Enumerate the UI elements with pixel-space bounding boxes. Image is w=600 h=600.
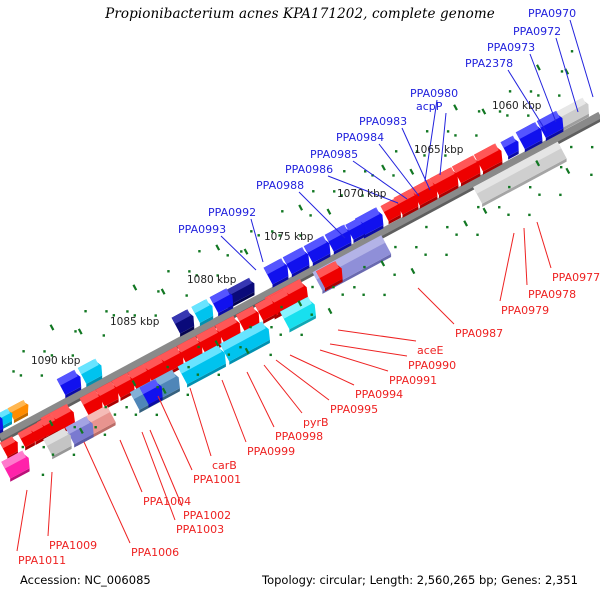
gene-label[interactable]: PPA0992 bbox=[208, 207, 256, 218]
gene-label[interactable]: PPA0987 bbox=[455, 328, 503, 339]
scale-tick-dot bbox=[528, 214, 530, 216]
scale-label: 1085 kbp bbox=[110, 317, 159, 328]
gene-label[interactable]: pyrB bbox=[303, 417, 329, 428]
gene-leader-line bbox=[190, 388, 211, 456]
scale-tick-mark bbox=[51, 325, 54, 330]
scale-tick-dot bbox=[426, 130, 428, 132]
gene-leader-line bbox=[158, 396, 192, 470]
scale-tick-dot bbox=[508, 186, 510, 188]
accession-text: Accession: NC_006085 bbox=[20, 573, 151, 587]
scale-tick-dot bbox=[156, 386, 158, 388]
scale-tick-dot bbox=[249, 326, 251, 328]
gene-leader-line bbox=[120, 440, 142, 492]
gene-label[interactable]: PPA0998 bbox=[275, 431, 323, 442]
scale-tick-dot bbox=[41, 374, 43, 376]
scale-tick-dot bbox=[392, 174, 394, 176]
scale-tick-dot bbox=[446, 226, 448, 228]
scale-label: 1075 kbp bbox=[264, 232, 313, 243]
scale-label: 1090 kbp bbox=[31, 356, 80, 367]
scale-tick-dot bbox=[312, 190, 314, 192]
scale-tick-dot bbox=[343, 170, 345, 172]
scale-tick-dot bbox=[197, 373, 199, 375]
gene-leader-line bbox=[418, 288, 454, 324]
scale-tick-dot bbox=[239, 346, 241, 348]
scale-tick-dot bbox=[157, 290, 159, 292]
scale-tick-dot bbox=[530, 90, 532, 92]
scale-tick-dot bbox=[43, 350, 45, 352]
gene-leader-line bbox=[330, 344, 407, 356]
scale-tick-dot bbox=[537, 94, 539, 96]
genome-map-viewer: Propionibacterium acnes KPA171202, compl… bbox=[0, 0, 600, 600]
scale-tick-mark bbox=[537, 65, 540, 70]
scale-tick-mark bbox=[454, 105, 457, 110]
scale-tick-dot bbox=[353, 286, 355, 288]
scale-tick-dot bbox=[590, 174, 592, 176]
scale-tick-dot bbox=[280, 306, 282, 308]
gene-label[interactable]: PPA0979 bbox=[501, 305, 549, 316]
scale-tick-mark bbox=[381, 261, 384, 266]
scale-tick-mark bbox=[484, 208, 487, 213]
scale-tick-dot bbox=[167, 270, 169, 272]
scale-tick-dot bbox=[395, 150, 397, 152]
scale-tick-dot bbox=[509, 90, 511, 92]
scale-tick-dot bbox=[188, 270, 190, 272]
gene-label[interactable]: PPA1002 bbox=[183, 510, 231, 521]
gene-leader-line bbox=[570, 20, 593, 97]
gene-label[interactable]: PPA0977 bbox=[552, 272, 600, 283]
scale-tick-dot bbox=[415, 246, 417, 248]
scale-tick-mark bbox=[464, 221, 467, 226]
scale-tick-dot bbox=[187, 366, 189, 368]
gene-label[interactable]: PPA0993 bbox=[178, 224, 226, 235]
scale-tick-dot bbox=[218, 374, 220, 376]
scale-tick-dot bbox=[185, 294, 187, 296]
scale-tick-mark bbox=[382, 165, 385, 170]
gene-leader-line bbox=[524, 228, 527, 285]
gene-label[interactable]: PPA2378 bbox=[465, 58, 513, 69]
scale-label: 1065 kbp bbox=[414, 145, 463, 156]
scale-tick-mark bbox=[79, 329, 82, 334]
scale-tick-mark bbox=[329, 308, 332, 313]
gene-label[interactable]: PPA0972 bbox=[513, 26, 561, 37]
scale-tick-dot bbox=[198, 250, 200, 252]
gene-leader-line bbox=[276, 360, 329, 400]
gene-label[interactable]: carB bbox=[212, 460, 237, 471]
genome-map-canvas[interactable] bbox=[0, 0, 600, 600]
topology-text: Topology: circular; Length: 2,560,265 bp… bbox=[262, 573, 578, 587]
scale-tick-dot bbox=[73, 454, 75, 456]
scale-tick-dot bbox=[135, 414, 137, 416]
scale-tick-mark bbox=[299, 205, 302, 210]
scale-tick-dot bbox=[476, 234, 478, 236]
gene-label[interactable]: PPA0970 bbox=[528, 8, 576, 19]
scale-tick-dot bbox=[280, 334, 282, 336]
scale-tick-dot bbox=[52, 453, 54, 455]
gene-label[interactable]: PPA0985 bbox=[310, 149, 358, 160]
scale-label: 1060 kbp bbox=[492, 101, 541, 112]
scale-tick-dot bbox=[22, 446, 24, 448]
gene-label[interactable]: PPA1004 bbox=[143, 496, 191, 507]
gene-label[interactable]: PPA1003 bbox=[176, 524, 224, 535]
gene-leader-line bbox=[537, 222, 551, 268]
gene-label[interactable]: PPA0995 bbox=[330, 404, 378, 415]
scale-tick-dot bbox=[393, 274, 395, 276]
scale-tick-dot bbox=[309, 214, 311, 216]
scale-tick-dot bbox=[558, 94, 560, 96]
scale-tick-dot bbox=[455, 233, 457, 235]
scale-tick-mark bbox=[216, 245, 219, 250]
scale-tick-dot bbox=[300, 334, 302, 336]
scale-tick-dot bbox=[342, 293, 344, 295]
gene-label[interactable]: aceE bbox=[417, 345, 444, 356]
scale-tick-mark bbox=[245, 249, 248, 254]
gene-label[interactable]: PPA0978 bbox=[528, 289, 576, 300]
gene-label[interactable]: PPA0986 bbox=[285, 164, 333, 175]
gene-leader-line bbox=[48, 472, 52, 536]
scale-tick-dot bbox=[197, 346, 199, 348]
scale-tick-mark bbox=[327, 209, 330, 214]
gene-leader-line bbox=[264, 365, 302, 413]
gene-leader-line bbox=[17, 490, 27, 551]
scale-tick-dot bbox=[84, 310, 86, 312]
gene-label[interactable]: PPA0991 bbox=[389, 375, 437, 386]
gene-leader-line bbox=[247, 372, 274, 427]
scale-tick-dot bbox=[559, 194, 561, 196]
gene-leader-line bbox=[402, 128, 430, 190]
gene-leader-line bbox=[320, 350, 388, 371]
scale-tick-dot bbox=[270, 326, 272, 328]
gene-label[interactable]: PPA0990 bbox=[408, 360, 456, 371]
scale-tick-dot bbox=[20, 374, 22, 376]
gene-leader-line bbox=[556, 38, 578, 112]
scale-tick-dot bbox=[383, 294, 385, 296]
gene-leader-line bbox=[221, 236, 256, 270]
scale-tick-dot bbox=[560, 166, 562, 168]
scale-tick-dot bbox=[529, 186, 531, 188]
scale-tick-dot bbox=[424, 254, 426, 256]
scale-tick-mark bbox=[162, 289, 165, 294]
gene-label[interactable]: PPA1006 bbox=[131, 547, 179, 558]
gene-leader-line bbox=[290, 355, 354, 385]
scale-tick-dot bbox=[126, 310, 128, 312]
scale-tick-dot bbox=[94, 426, 96, 428]
gene-leader-line bbox=[338, 330, 416, 341]
scale-tick-dot bbox=[74, 426, 76, 428]
scale-label: 1070 kbp bbox=[337, 189, 386, 200]
scale-tick-dot bbox=[332, 286, 334, 288]
scale-tick-dot bbox=[12, 370, 14, 372]
scale-tick-dot bbox=[311, 313, 313, 315]
gene-leader-line bbox=[222, 380, 246, 442]
scale-tick-dot bbox=[269, 354, 271, 356]
scale-tick-dot bbox=[570, 146, 572, 148]
scale-tick-dot bbox=[281, 210, 283, 212]
scale-tick-dot bbox=[227, 254, 229, 256]
scale-tick-dot bbox=[571, 50, 573, 52]
scale-tick-dot bbox=[507, 214, 509, 216]
scale-tick-dot bbox=[477, 206, 479, 208]
gene-label[interactable]: PPA0984 bbox=[336, 132, 384, 143]
scale-tick-dot bbox=[43, 446, 45, 448]
scale-tick-dot bbox=[166, 366, 168, 368]
scale-tick-dot bbox=[506, 114, 508, 116]
scale-tick-dot bbox=[454, 134, 456, 136]
scale-tick-dot bbox=[74, 330, 76, 332]
scale-tick-dot bbox=[591, 146, 593, 148]
scale-tick-dot bbox=[240, 250, 242, 252]
scale-tick-dot bbox=[447, 130, 449, 132]
gene-label[interactable]: PPA0973 bbox=[487, 42, 535, 53]
scale-tick-mark bbox=[482, 109, 485, 114]
scale-tick-dot bbox=[561, 70, 563, 72]
scale-tick-dot bbox=[42, 474, 44, 476]
scale-tick-mark bbox=[566, 168, 569, 173]
scale-label: 1080 kbp bbox=[187, 275, 236, 286]
scale-tick-dot bbox=[478, 110, 480, 112]
scale-tick-dot bbox=[363, 266, 365, 268]
gene-label[interactable]: acpP bbox=[416, 101, 442, 112]
scale-tick-dot bbox=[103, 334, 105, 336]
gene-label[interactable]: PPA0983 bbox=[359, 116, 407, 127]
scale-tick-dot bbox=[425, 226, 427, 228]
scale-tick-dot bbox=[362, 294, 364, 296]
scale-tick-dot bbox=[445, 254, 447, 256]
gene-leader-line bbox=[251, 219, 263, 262]
scale-tick-dot bbox=[125, 406, 127, 408]
gene-leader-line bbox=[500, 233, 514, 301]
scale-tick-dot bbox=[114, 413, 116, 415]
scale-tick-dot bbox=[475, 134, 477, 136]
scale-tick-dot bbox=[104, 434, 106, 436]
scale-tick-mark bbox=[412, 268, 415, 273]
gene-label[interactable]: PPA0994 bbox=[355, 389, 403, 400]
scale-tick-dot bbox=[257, 234, 259, 236]
scale-tick-dot bbox=[228, 353, 230, 355]
gene-label[interactable]: PPA1009 bbox=[49, 540, 97, 551]
scale-tick-dot bbox=[498, 206, 500, 208]
scale-tick-dot bbox=[527, 114, 529, 116]
status-bar: Accession: NC_006085 Topology: circular;… bbox=[0, 564, 600, 600]
scale-tick-dot bbox=[394, 246, 396, 248]
gene-label[interactable]: PPA0999 bbox=[247, 446, 295, 457]
scale-tick-dot bbox=[105, 406, 107, 408]
scale-tick-dot bbox=[538, 194, 540, 196]
scale-tick-dot bbox=[333, 190, 335, 192]
scale-tick-dot bbox=[105, 310, 107, 312]
gene-label[interactable]: PPA0988 bbox=[256, 180, 304, 191]
gene-label[interactable]: PPA1001 bbox=[193, 474, 241, 485]
gene-leader-line bbox=[84, 442, 130, 543]
scale-tick-mark bbox=[410, 169, 413, 174]
scale-tick-dot bbox=[22, 350, 24, 352]
gene-label[interactable]: PPA0980 bbox=[410, 88, 458, 99]
scale-tick-dot bbox=[156, 414, 158, 416]
scale-tick-dot bbox=[250, 230, 252, 232]
scale-tick-mark bbox=[133, 285, 136, 290]
scale-tick-dot bbox=[187, 394, 189, 396]
scale-tick-dot bbox=[311, 286, 313, 288]
